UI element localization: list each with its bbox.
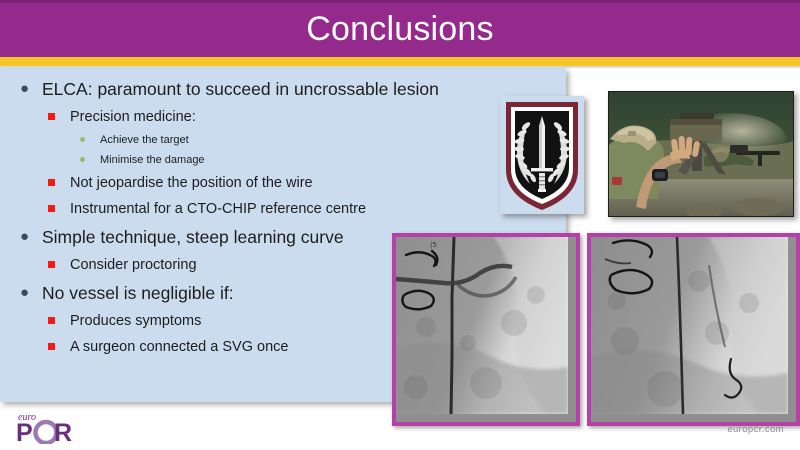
slide-title-band: Conclusions (0, 0, 800, 57)
title-accent-rule (0, 57, 800, 66)
svg-text:|5: |5 (430, 241, 437, 249)
list-item-label: No vessel is negligible if: (42, 283, 234, 303)
list-item-label: A surgeon connected a SVG once (70, 339, 288, 355)
title-band-top-edge (0, 0, 800, 3)
bullet-dot-icon: ● (20, 278, 29, 308)
list-item-label: ELCA: paramount to succeed in uncrossabl… (42, 79, 439, 99)
list-item: Precision medicine: (8, 104, 508, 130)
coronary-angiogram-before-image: |5 (392, 233, 580, 426)
list-item-label: Precision medicine: (70, 109, 196, 125)
logo-pcr-text: P R (16, 419, 72, 444)
bullet-dot-icon: ● (20, 74, 29, 104)
list-item-label: Achieve the target (100, 134, 189, 146)
coronary-angiogram-after-image (587, 233, 800, 426)
europcr-logo: euro P R (16, 410, 106, 444)
list-item-label: Simple technique, steep learning curve (42, 227, 344, 247)
slide-canvas: Conclusions ● ELCA: paramount to succeed… (0, 0, 800, 450)
bullet-dot-icon: ● (20, 222, 29, 252)
list-item-label: Not jeopardise the position of the wire (70, 175, 313, 191)
list-item: Minimise the damage (8, 150, 508, 170)
bullet-square-icon (48, 343, 55, 350)
bullet-small-dot-icon (80, 157, 85, 162)
bullet-small-dot-icon (80, 137, 85, 142)
bullet-square-icon (48, 261, 55, 268)
list-item: Not jeopardise the position of the wire (8, 170, 508, 196)
bullet-square-icon (48, 113, 55, 120)
list-item: ● ELCA: paramount to succeed in uncrossa… (8, 74, 508, 104)
list-item: Achieve the target (8, 130, 508, 150)
list-item: Instrumental for a CTO-CHIP reference ce… (8, 196, 508, 222)
svg-text:P: P (16, 419, 33, 444)
military-unit-crest-image (500, 96, 584, 214)
list-item-label: Consider proctoring (70, 257, 197, 273)
page-title: Conclusions (0, 5, 800, 53)
list-item-label: Instrumental for a CTO-CHIP reference ce… (70, 201, 366, 217)
list-item-label: Produces symptoms (70, 313, 201, 329)
footer-url: europcr.com (727, 424, 784, 435)
bullet-square-icon (48, 179, 55, 186)
bullet-square-icon (48, 205, 55, 212)
soldiers-weapon-range-photo (608, 91, 794, 217)
svg-text:R: R (54, 419, 72, 444)
list-item-label: Minimise the damage (100, 154, 205, 166)
bullet-square-icon (48, 317, 55, 324)
